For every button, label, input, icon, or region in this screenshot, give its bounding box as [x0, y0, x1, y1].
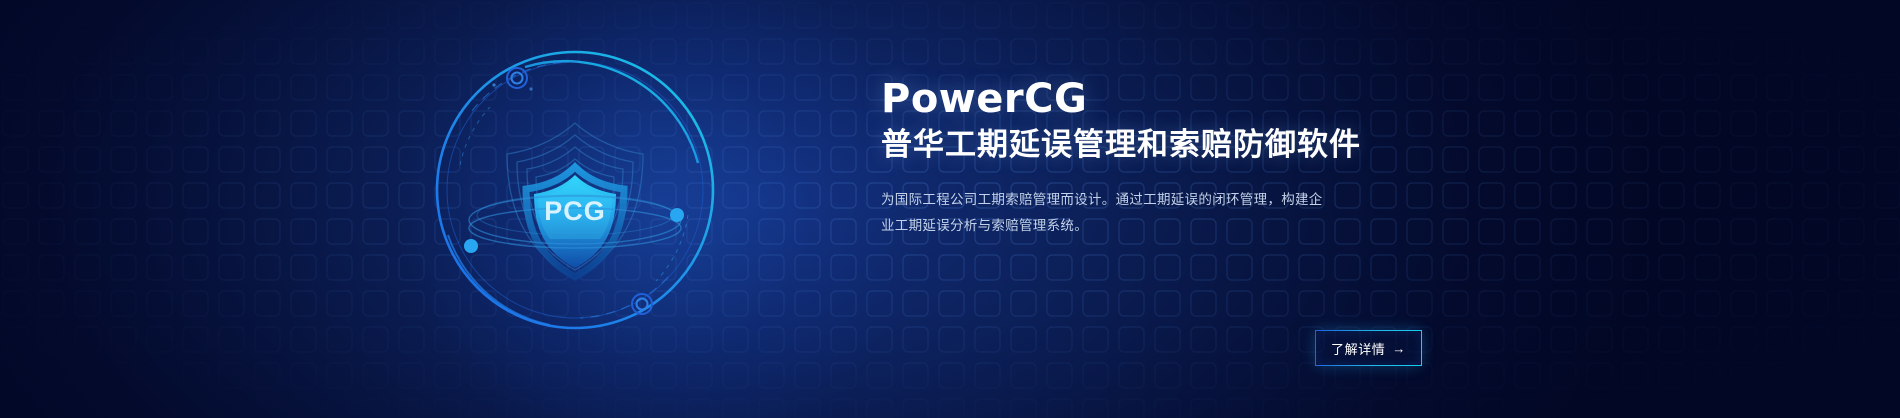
orbit-dot-left — [464, 239, 478, 253]
hero-banner: PCG PowerCG 普华工期延误管理和索赔防御软件 为国际工程公司工期索赔管… — [0, 0, 1900, 418]
orbit-dot-right — [670, 208, 684, 222]
shield-label: PCG — [544, 196, 606, 226]
learn-more-button[interactable]: 了解详情 → — [1315, 330, 1422, 366]
hero-content: PowerCG 普华工期延误管理和索赔防御软件 为国际工程公司工期索赔管理而设计… — [881, 78, 1501, 239]
learn-more-label: 了解详情 — [1331, 339, 1385, 358]
cta-container: 了解详情 → — [1315, 330, 1422, 366]
arrow-right-icon: → — [1392, 342, 1406, 355]
product-logotype: PowerCG — [881, 78, 1501, 120]
shield-emblem-graphic: PCG — [430, 45, 720, 335]
hero-description: 为国际工程公司工期索赔管理而设计。通过工期延误的闭环管理，构建企业工期延误分析与… — [881, 187, 1333, 240]
page-title: 普华工期延误管理和索赔防御软件 — [881, 126, 1501, 165]
